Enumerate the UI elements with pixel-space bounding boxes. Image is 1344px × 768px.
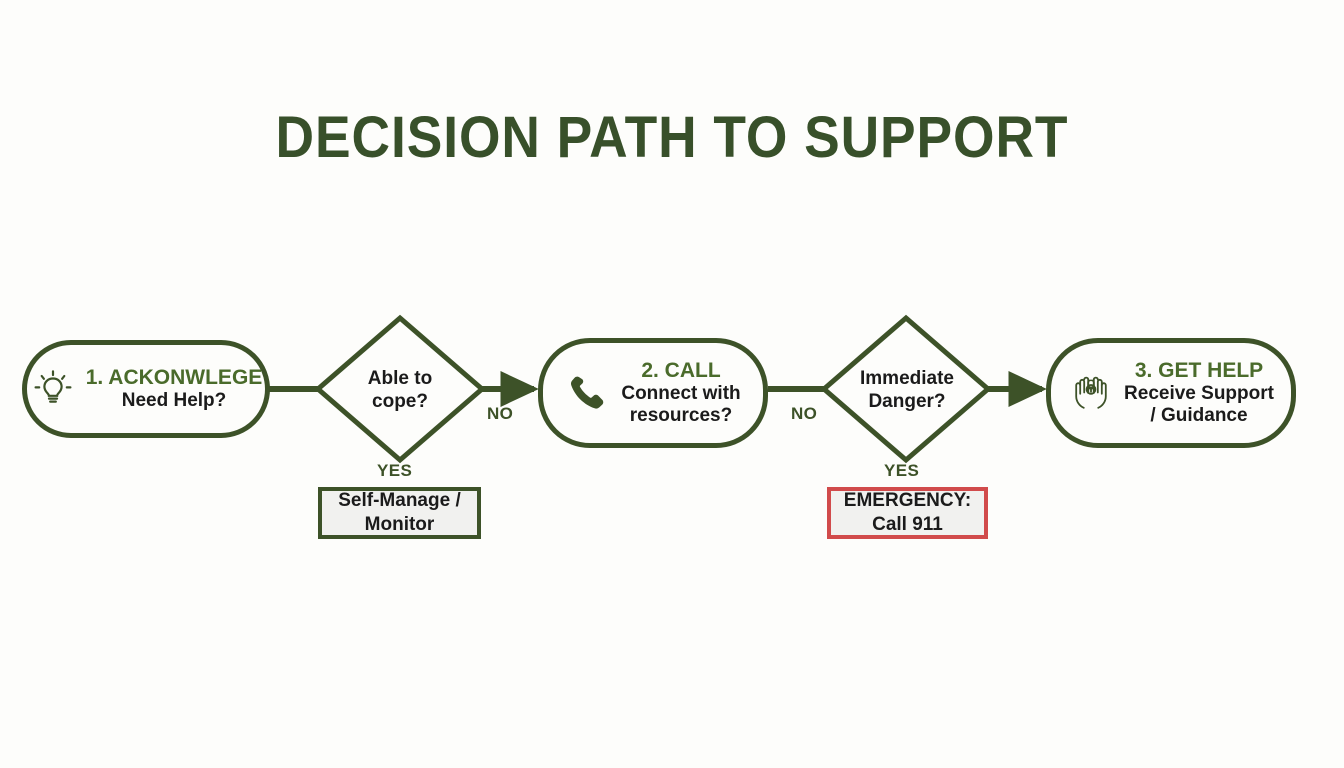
edge-label-danger-no: NO <box>791 404 817 424</box>
node-acknowledge-heading: 1. ACKONWLEGE <box>86 366 263 391</box>
decision-immediate-danger-line1: Immediate <box>826 368 988 391</box>
phone-icon <box>565 370 611 416</box>
edge-label-danger-yes: YES <box>884 461 919 481</box>
diagram-canvas: DECISION PATH TO SUPPORT <box>0 0 1344 768</box>
terminal-self-manage[interactable]: Self-Manage / Monitor <box>318 487 481 539</box>
edge-label-cope-yes: YES <box>377 461 412 481</box>
decision-immediate-danger-line2: Danger? <box>826 391 988 414</box>
node-acknowledge[interactable]: 1. ACKONWLEGE Need Help? <box>22 340 270 438</box>
decision-able-to-cope-line1: Able to <box>320 368 480 391</box>
terminal-self-manage-line1: Self-Manage / <box>338 489 460 513</box>
terminal-self-manage-line2: Monitor <box>338 513 460 537</box>
node-acknowledge-text: 1. ACKONWLEGE Need Help? <box>86 366 263 413</box>
terminal-self-manage-text: Self-Manage / Monitor <box>338 489 460 537</box>
node-get-help-subtext-line2: / Guidance <box>1150 405 1247 427</box>
terminal-emergency-line2: Call 911 <box>844 513 971 537</box>
edge-label-cope-no: NO <box>487 404 513 424</box>
lightbulb-icon <box>30 366 76 412</box>
terminal-emergency-text: EMERGENCY: Call 911 <box>844 489 971 537</box>
node-call-text: 2. CALL Connect with resources? <box>621 359 740 428</box>
node-get-help-heading: 3. GET HELP <box>1135 359 1263 384</box>
helping-hands-icon <box>1068 370 1114 416</box>
node-call-subtext-line1: Connect with <box>621 383 740 405</box>
node-get-help-subtext-line1: Receive Support <box>1124 383 1274 405</box>
node-get-help[interactable]: 3. GET HELP Receive Support / Guidance <box>1046 338 1296 448</box>
terminal-emergency[interactable]: EMERGENCY: Call 911 <box>827 487 988 539</box>
page-title: DECISION PATH TO SUPPORT <box>54 104 1290 171</box>
decision-able-to-cope-label: Able to cope? <box>320 368 480 414</box>
node-call-content: 2. CALL Connect with resources? <box>551 359 754 428</box>
node-call-subtext-line2: resources? <box>630 405 732 427</box>
decision-immediate-danger-label: Immediate Danger? <box>826 368 988 414</box>
node-get-help-content: 3. GET HELP Receive Support / Guidance <box>1054 359 1288 428</box>
node-get-help-text: 3. GET HELP Receive Support / Guidance <box>1124 359 1274 428</box>
terminal-emergency-line1: EMERGENCY: <box>844 489 971 513</box>
node-call[interactable]: 2. CALL Connect with resources? <box>538 338 768 448</box>
node-call-heading: 2. CALL <box>641 359 720 384</box>
decision-able-to-cope-line2: cope? <box>320 391 480 414</box>
node-acknowledge-content: 1. ACKONWLEGE Need Help? <box>16 366 277 413</box>
node-acknowledge-subtext: Need Help? <box>122 390 227 412</box>
